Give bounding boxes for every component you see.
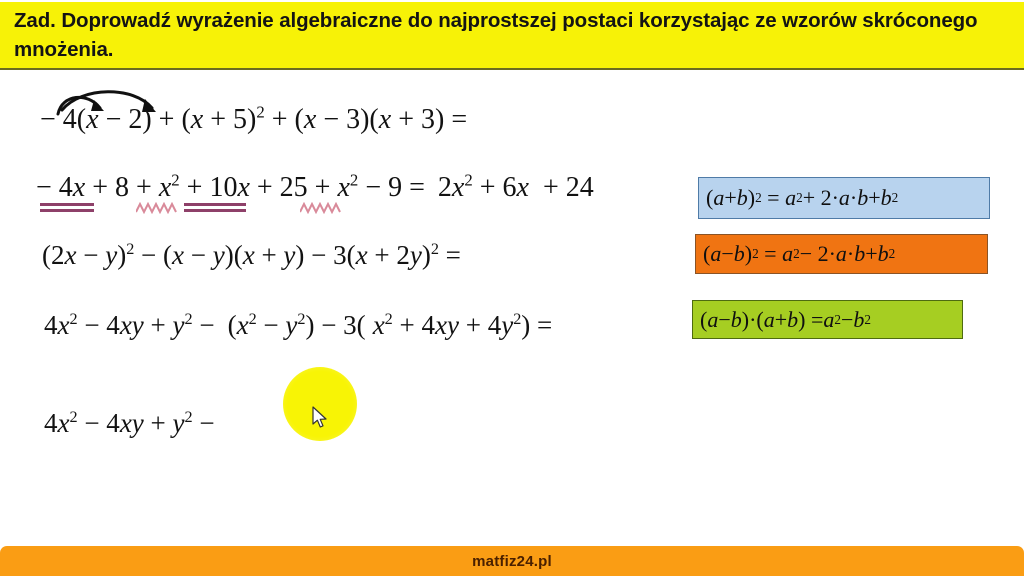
mouse-cursor-icon bbox=[312, 406, 329, 430]
zigzag-mark-x-squared-2 bbox=[300, 202, 342, 214]
math-line-1: − 4(x − 2) + (x + 5)2 + (x − 3)(x + 3) = bbox=[40, 104, 467, 136]
worksheet-canvas: − 4(x − 2) + (x + 5)2 + (x − 3)(x + 3) =… bbox=[0, 72, 1024, 538]
math-line-4: 4x2 − 4xy + y2 −(x2 − y2) − 3(x2 + 4xy +… bbox=[44, 310, 552, 341]
math-line-2: − 4x + 8 + x2 + 10x + 25 + x2 − 9 =2x2 +… bbox=[36, 172, 594, 204]
zigzag-mark-x-squared-1 bbox=[136, 202, 178, 214]
math-line-5: 4x2 − 4xy + y2 − bbox=[44, 408, 215, 439]
header-banner: Zad. Doprowadź wyrażenie algebraiczne do… bbox=[0, 2, 1024, 70]
math-line-3: (2x − y)2 − (x − y)(x + y) − 3(x + 2y)2 … bbox=[42, 240, 461, 271]
underline-mark-minus-4x bbox=[40, 203, 94, 212]
underline-mark-plus-10x bbox=[184, 203, 246, 212]
footer-brand-label: matfiz24.pl bbox=[472, 553, 552, 570]
formula-box-difference-squared: (a − b)2 = a2 − 2·a·b + b2 bbox=[695, 234, 988, 274]
page-title: Zad. Doprowadź wyrażenie algebraiczne do… bbox=[14, 6, 1010, 64]
formula-box-difference-of-squares: (a − b)·(a + b) = a2 − b2 bbox=[692, 300, 963, 339]
footer-bar: matfiz24.pl bbox=[0, 546, 1024, 576]
formula-box-sum-squared: (a + b)2 = a2 + 2·a·b + b2 bbox=[698, 177, 990, 219]
